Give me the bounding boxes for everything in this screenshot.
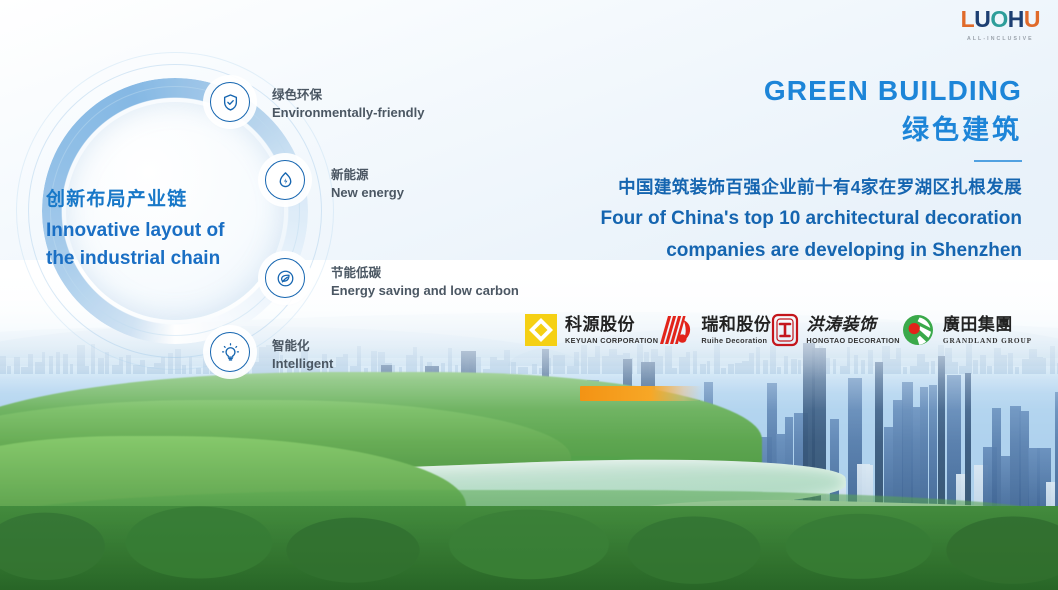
- ruihe-logo-text: 瑞和股份 Ruihe Decoration: [701, 315, 771, 345]
- shield-check-icon: [221, 93, 240, 112]
- right-text-panel: GREEN BUILDING 绿色建筑 中国建筑装饰百强企业前十有4家在罗湖区扎…: [530, 76, 1022, 263]
- node-label-environmentally-friendly: 绿色环保 Environmentally-friendly: [272, 87, 424, 121]
- partner-logo-grandland[interactable]: 廣田集團 GRANDLAND GROUP: [900, 313, 1032, 347]
- ring-title-zh: 创新布局产业链: [46, 186, 270, 215]
- industrial-chain-ring: 创新布局产业链 Innovative layout of the industr…: [42, 78, 310, 368]
- partner-logo-ruihe[interactable]: 瑞和股份 Ruihe Decoration: [658, 314, 771, 346]
- ruihe-stripes-icon: [658, 314, 694, 346]
- subtitle-en-line1: Four of China's top 10 architectural dec…: [530, 206, 1022, 231]
- luohu-letter: H: [1008, 8, 1024, 31]
- grandland-cn: 廣田集團: [943, 315, 1013, 334]
- node-2-zh: 新能源: [331, 167, 404, 184]
- hongtao-seal-icon: [771, 313, 799, 347]
- headline-zh: 绿色建筑: [530, 116, 1022, 146]
- keyuan-logo-text: 科源股份 KEYUAN CORPORATION: [565, 315, 658, 345]
- node-2-en: New energy: [331, 184, 404, 201]
- luohu-letter: U: [974, 8, 990, 31]
- ring-title-en-line2: the industrial chain: [46, 247, 270, 271]
- node-energy-saving-low-carbon[interactable]: [265, 258, 305, 298]
- luohu-letter: L: [961, 8, 975, 31]
- node-1-en: Environmentally-friendly: [272, 104, 424, 121]
- orange-accent-bar: [580, 386, 702, 401]
- subtitle-en-line2: companies are developing in Shenzhen: [530, 238, 1022, 263]
- lightbulb-icon: [221, 343, 240, 362]
- luohu-letter: O: [990, 8, 1007, 31]
- node-4-zh: 智能化: [272, 338, 333, 355]
- node-4-en: Intelligent: [272, 355, 333, 372]
- node-3-en: Energy saving and low carbon: [331, 282, 519, 299]
- ruihe-cn: 瑞和股份: [701, 315, 771, 334]
- grandland-circle-icon: [900, 313, 936, 347]
- partner-logo-keyuan[interactable]: 科源股份 KEYUAN CORPORATION: [524, 313, 658, 347]
- ruihe-en: Ruihe Decoration: [701, 337, 771, 345]
- ring-title-en-line1: Innovative layout of: [46, 219, 270, 243]
- node-3-zh: 节能低碳: [331, 265, 519, 282]
- keyuan-diamond-icon: [524, 313, 558, 347]
- grandland-logo-text: 廣田集團 GRANDLAND GROUP: [943, 315, 1032, 345]
- hongtao-logo-text: 洪涛装饰 HONGTAO DECORATION: [806, 315, 900, 345]
- partner-logo-row: 科源股份 KEYUAN CORPORATION 瑞和股份: [524, 306, 1032, 354]
- leaf-circle-icon: [276, 269, 295, 288]
- hongtao-en: HONGTAO DECORATION: [806, 337, 900, 345]
- hongtao-cn: 洪涛装饰: [806, 315, 876, 334]
- ring-center-title: 创新布局产业链 Innovative layout of the industr…: [42, 186, 270, 271]
- node-new-energy[interactable]: [265, 160, 305, 200]
- headline-divider: [974, 160, 1022, 162]
- luohu-brand-logo[interactable]: LUOHU ALL-INCLUSIVE: [961, 8, 1040, 42]
- subtitle-zh: 中国建筑装饰百强企业前十有4家在罗湖区扎根发展: [530, 176, 1022, 200]
- node-label-new-energy: 新能源 New energy: [331, 167, 404, 201]
- keyuan-en: KEYUAN CORPORATION: [565, 337, 658, 345]
- node-label-energy-saving: 节能低碳 Energy saving and low carbon: [331, 265, 519, 299]
- slide-root: 创新布局产业链 Innovative layout of the industr…: [0, 0, 1058, 590]
- headline-en: GREEN BUILDING: [530, 76, 1022, 107]
- partner-logo-hongtao[interactable]: 洪涛装饰 HONGTAO DECORATION: [771, 313, 900, 347]
- node-label-intelligent: 智能化 Intelligent: [272, 338, 333, 372]
- luohu-letter: U: [1024, 8, 1040, 31]
- node-environmentally-friendly[interactable]: [210, 82, 250, 122]
- node-intelligent[interactable]: [210, 332, 250, 372]
- luohu-tagline: ALL-INCLUSIVE: [961, 36, 1040, 42]
- leaf-bolt-icon: [276, 171, 295, 190]
- keyuan-cn: 科源股份: [565, 315, 635, 334]
- luohu-wordmark: LUOHU: [961, 8, 1040, 31]
- node-1-zh: 绿色环保: [272, 87, 424, 104]
- grandland-en: GRANDLAND GROUP: [943, 337, 1032, 345]
